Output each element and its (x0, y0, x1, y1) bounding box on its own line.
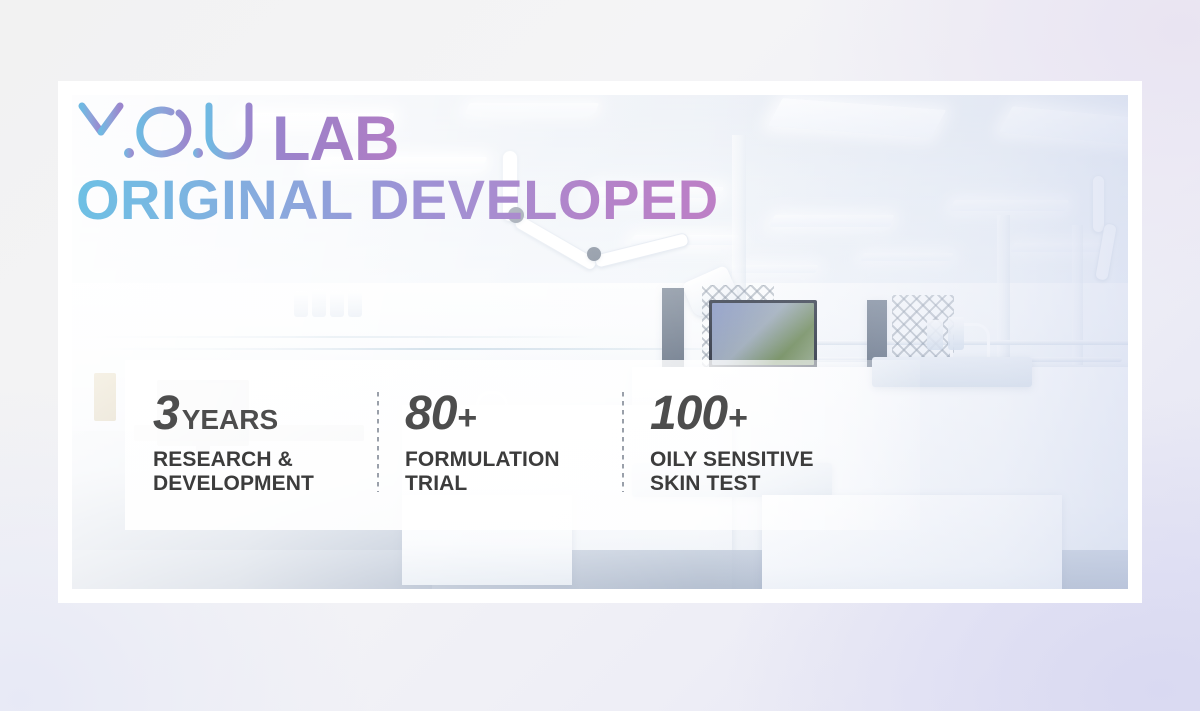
stats-panel: 3 YEARS RESEARCH & DEVELOPMENT 80 + FORM… (125, 360, 920, 530)
lab-wordmark: LAB (272, 112, 398, 166)
logo-row: LAB (76, 96, 719, 166)
stat-value: 80 (405, 390, 456, 438)
you-logomark-icon (76, 98, 256, 166)
stat-number-group: 3 YEARS (153, 390, 377, 438)
stat-plus: + (457, 401, 476, 435)
stat-description: OILY SENSITIVE SKIN TEST (650, 448, 920, 495)
brand-lockup: LAB ORIGINAL DEVELOPED (76, 96, 719, 228)
stat-item-formulation: 80 + FORMULATION TRIAL (377, 360, 622, 530)
stat-description: FORMULATION TRIAL (405, 448, 622, 495)
stat-item-years: 3 YEARS RESEARCH & DEVELOPMENT (125, 360, 377, 530)
stat-description: RESEARCH & DEVELOPMENT (153, 448, 377, 495)
stat-item-skin-test: 100 + OILY SENSITIVE SKIN TEST (622, 360, 920, 530)
stat-value: 100 (650, 390, 727, 438)
stat-divider (622, 392, 624, 492)
headline-original-developed: ORIGINAL DEVELOPED (76, 172, 719, 228)
stat-number-group: 80 + (405, 390, 622, 438)
stat-unit: YEARS (182, 406, 278, 434)
stat-plus: + (728, 401, 747, 435)
stat-number-group: 100 + (650, 390, 920, 438)
stat-divider (377, 392, 379, 492)
banner-root: LAB ORIGINAL DEVELOPED 3 YEARS RESEARCH … (0, 0, 1200, 711)
stat-value: 3 (153, 390, 179, 438)
